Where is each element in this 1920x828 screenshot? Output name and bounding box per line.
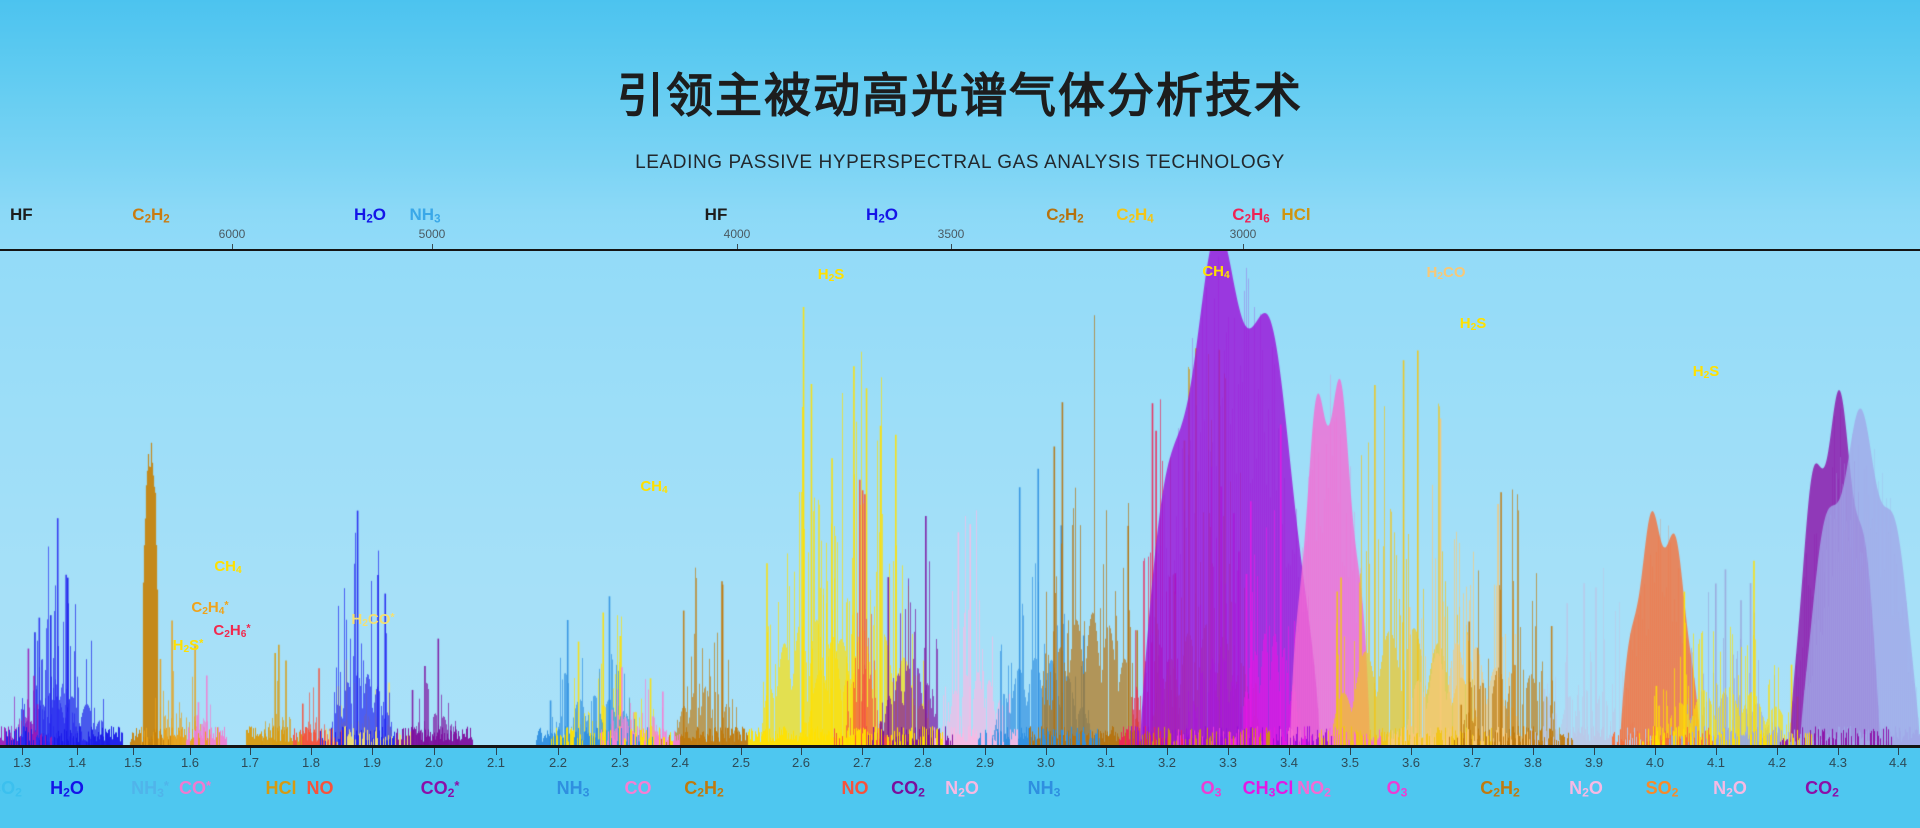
gas-label-top: C2H6 <box>1232 205 1269 226</box>
tick-mark <box>1046 748 1047 755</box>
gas-label-bottom: SO2 <box>1646 778 1679 800</box>
tick-mark <box>1716 748 1717 755</box>
gas-label-top: H2O <box>354 205 386 226</box>
tick-mark <box>1898 748 1899 755</box>
spectral-banner: 引领主被动高光谱气体分析技术 LEADING PASSIVE HYPERSPEC… <box>0 0 1920 828</box>
gas-label-bottom: O3 <box>1387 778 1408 800</box>
axis-bottom-line <box>0 745 1920 748</box>
gas-label-bottom: NH3 <box>1028 778 1061 800</box>
tick-mark <box>1106 748 1107 755</box>
tick-mark <box>1533 748 1534 755</box>
tick-mark <box>1472 748 1473 755</box>
gas-label-top: HCl <box>1281 205 1310 225</box>
tick-mark <box>311 748 312 755</box>
tick-label: 4.4 <box>1889 755 1907 770</box>
tick-label: 2.4 <box>671 755 689 770</box>
tick-label: 1.8 <box>302 755 320 770</box>
gas-label-top: C2H2 <box>132 205 169 226</box>
spectrum-plot <box>0 251 1920 746</box>
tick-label: 2.6 <box>792 755 810 770</box>
tick-label: 2.8 <box>914 755 932 770</box>
tick-mark <box>133 748 134 755</box>
gas-label-bottom: H2O <box>50 778 84 800</box>
gas-label-inplot: CH4 <box>1202 263 1229 281</box>
tick-label: 1.7 <box>241 755 259 770</box>
tick-mark <box>434 748 435 755</box>
tick-label: 3.2 <box>1158 755 1176 770</box>
gas-label-bottom: NH3 <box>557 778 590 800</box>
gas-label-bottom: CH3Cl <box>1243 778 1294 800</box>
tick-mark <box>1228 748 1229 755</box>
gas-label-bottom: NO <box>307 778 334 799</box>
tick-mark <box>558 748 559 755</box>
gas-label-top: HF <box>10 205 33 225</box>
tick-label: 2.5 <box>732 755 750 770</box>
tick-mark <box>1838 748 1839 755</box>
page-subtitle: LEADING PASSIVE HYPERSPECTRAL GAS ANALYS… <box>0 152 1920 174</box>
tick-label: 2.9 <box>976 755 994 770</box>
tick-label: 3.3 <box>1219 755 1237 770</box>
gas-label-top: H2O <box>866 205 898 226</box>
gas-label-bottom: CO2 <box>0 778 22 800</box>
tick-mark <box>1167 748 1168 755</box>
tick-label: 2.3 <box>611 755 629 770</box>
gas-label-bottom: N2O <box>1569 778 1603 800</box>
tick-mark <box>77 748 78 755</box>
tick-label: 3.0 <box>1037 755 1055 770</box>
tick-label: 4000 <box>724 227 751 241</box>
gas-label-inplot: H2S <box>818 266 845 284</box>
tick-mark <box>1655 748 1656 755</box>
gas-label-top: C2H2 <box>1046 205 1083 226</box>
tick-mark <box>620 748 621 755</box>
tick-label: 3.7 <box>1463 755 1481 770</box>
tick-label: 3.9 <box>1585 755 1603 770</box>
tick-label: 2.0 <box>425 755 443 770</box>
tick-mark <box>1777 748 1778 755</box>
gas-label-bottom: C2H2 <box>1480 778 1520 800</box>
gas-label-bottom: NH3* <box>131 778 169 800</box>
tick-label: 3.6 <box>1402 755 1420 770</box>
gas-label-bottom: N2O <box>1713 778 1747 800</box>
gas-label-inplot: H2S <box>1460 315 1487 333</box>
gas-label-bottom: CO2* <box>421 778 460 800</box>
tick-label: 1.9 <box>363 755 381 770</box>
tick-mark <box>741 748 742 755</box>
tick-mark <box>1289 748 1290 755</box>
tick-mark <box>372 748 373 755</box>
tick-label: 4.3 <box>1829 755 1847 770</box>
gas-label-bottom: N2O <box>945 778 979 800</box>
gas-label-bottom: CO* <box>179 778 211 799</box>
tick-label: 2.2 <box>549 755 567 770</box>
gas-label-bottom: C2H2 <box>684 778 724 800</box>
gas-label-inplot: CH4 <box>640 478 667 496</box>
tick-mark <box>1594 748 1595 755</box>
gas-label-inplot: H2S* <box>173 637 204 655</box>
tick-mark <box>22 748 23 755</box>
gas-label-bottom: NO2 <box>1297 778 1331 800</box>
tick-label: 3.8 <box>1524 755 1542 770</box>
tick-label: 3.4 <box>1280 755 1298 770</box>
gas-label-inplot: H2S <box>1693 363 1720 381</box>
tick-mark <box>680 748 681 755</box>
spectrum-canvas <box>0 251 1920 746</box>
gas-label-bottom: NO <box>842 778 869 799</box>
page-title: 引领主被动高光谱气体分析技术 <box>0 57 1920 126</box>
tick-label: 2.7 <box>853 755 871 770</box>
tick-mark <box>1350 748 1351 755</box>
tick-label: 1.5 <box>124 755 142 770</box>
tick-label: 4.0 <box>1646 755 1664 770</box>
gas-label-inplot: CH4 <box>214 558 241 576</box>
tick-label: 3.5 <box>1341 755 1359 770</box>
tick-label: 3500 <box>938 227 965 241</box>
hero-banner: 引领主被动高光谱气体分析技术 LEADING PASSIVE HYPERSPEC… <box>0 0 1920 251</box>
tick-mark <box>862 748 863 755</box>
gas-label-inplot: H2CO* <box>351 611 394 629</box>
gas-label-inplot: C2H6* <box>213 622 250 640</box>
tick-mark <box>250 748 251 755</box>
tick-mark <box>985 748 986 755</box>
gas-label-top: C2H4 <box>1116 205 1153 226</box>
tick-label: 3000 <box>1230 227 1257 241</box>
tick-mark <box>801 748 802 755</box>
gas-label-bottom: CO <box>625 778 652 799</box>
tick-mark <box>190 748 191 755</box>
tick-label: 4.1 <box>1707 755 1725 770</box>
tick-label: 2.1 <box>487 755 505 770</box>
tick-label: 1.6 <box>181 755 199 770</box>
gas-label-inplot: C2H4* <box>191 599 228 617</box>
gas-label-bottom: CO2 <box>891 778 925 800</box>
axis-top-line <box>0 249 1920 251</box>
tick-mark <box>1411 748 1412 755</box>
tick-mark <box>923 748 924 755</box>
gas-label-bottom: O3 <box>1201 778 1222 800</box>
tick-label: 4.2 <box>1768 755 1786 770</box>
gas-label-top: HF <box>705 205 728 225</box>
tick-label: 1.3 <box>13 755 31 770</box>
tick-label: 3.1 <box>1097 755 1115 770</box>
gas-label-inplot: H2CO <box>1426 264 1465 282</box>
gas-label-bottom: CO2 <box>1805 778 1839 800</box>
tick-label: 6000 <box>219 227 246 241</box>
tick-mark <box>496 748 497 755</box>
gas-label-top: NH3 <box>410 205 441 226</box>
tick-label: 1.4 <box>68 755 86 770</box>
tick-label: 5000 <box>419 227 446 241</box>
gas-label-bottom: HCl <box>266 778 297 799</box>
